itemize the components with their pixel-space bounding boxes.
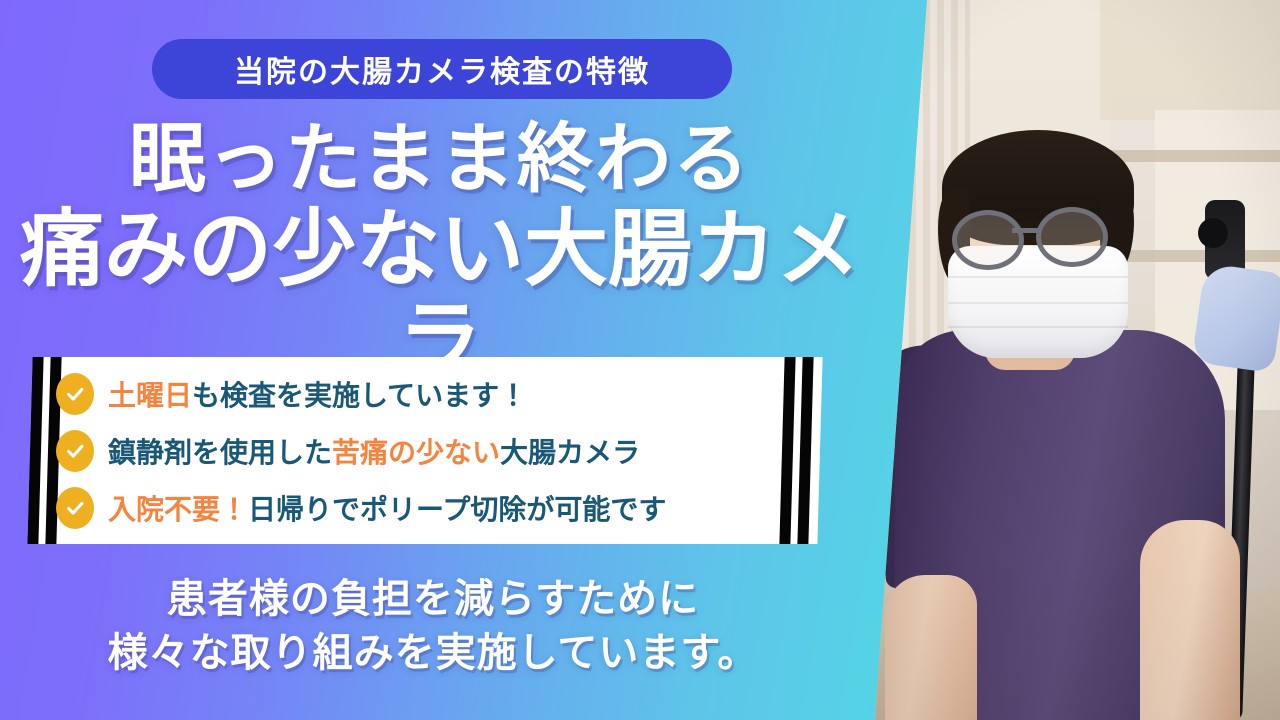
glove-icon bbox=[1191, 263, 1280, 373]
feature-text-1: 土曜日も検査を実施しています！ bbox=[108, 374, 527, 414]
check-circle-icon bbox=[56, 487, 94, 529]
check-circle-icon bbox=[56, 430, 94, 472]
caption-line-2: 様々な取り組みを実施しています。 bbox=[0, 626, 866, 680]
doctor-arm-right bbox=[1140, 520, 1240, 720]
check-circle-icon bbox=[56, 373, 94, 415]
caption: 患者様の負担を減らすために 様々な取り組みを実施しています。 bbox=[0, 572, 866, 680]
wall-panel-3 bbox=[1100, 0, 1280, 120]
feature-badge-label: 当院の大腸カメラ検査の特徴 bbox=[234, 47, 650, 91]
glasses-lens-right bbox=[1036, 207, 1108, 267]
shelf-upper bbox=[1100, 150, 1280, 162]
glasses-lens-left bbox=[952, 210, 1024, 270]
features-list: 土曜日も検査を実施しています！ 鎮静剤を使用した苦痛の少ない大腸カメラ 入院不要… bbox=[56, 363, 796, 538]
headline-line-1: 眠ったまま終わる bbox=[0, 118, 880, 200]
list-item: 土曜日も検査を実施しています！ bbox=[56, 367, 796, 421]
feature-1-highlight: 土曜日 bbox=[108, 379, 192, 412]
feature-2-highlight: 苦痛の少ない bbox=[332, 436, 500, 469]
list-item: 鎮静剤を使用した苦痛の少ない大腸カメラ bbox=[56, 424, 796, 478]
promo-banner: 当院の大腸カメラ検査の特徴 眠ったまま終わる 痛みの少ない大腸カメラ 土曜日も検… bbox=[0, 0, 1280, 720]
endoscope-knob bbox=[1198, 218, 1228, 248]
caption-line-1: 患者様の負担を減らすために bbox=[0, 572, 866, 626]
glasses-bridge bbox=[1012, 228, 1040, 233]
feature-badge: 当院の大腸カメラ検査の特徴 bbox=[152, 39, 732, 99]
features-panel: 土曜日も検査を実施しています！ 鎮静剤を使用した苦痛の少ない大腸カメラ 入院不要… bbox=[12, 357, 838, 544]
feature-2-lead: 鎮静剤を使用した bbox=[108, 436, 332, 469]
feature-2-rest: 大腸カメラ bbox=[500, 436, 640, 469]
feature-text-2: 鎮静剤を使用した苦痛の少ない大腸カメラ bbox=[108, 431, 640, 471]
doctor-arm-left bbox=[885, 575, 977, 720]
feature-text-3: 入院不要！日帰りでポリープ切除が可能です bbox=[108, 488, 666, 528]
feature-1-rest: も検査を実施しています！ bbox=[192, 379, 527, 412]
list-item: 入院不要！日帰りでポリープ切除が可能です bbox=[56, 481, 796, 535]
headline: 眠ったまま終わる 痛みの少ない大腸カメラ bbox=[0, 118, 880, 386]
feature-3-rest: 日帰りでポリープ切除が可能です bbox=[248, 493, 666, 526]
feature-3-highlight: 入院不要！ bbox=[108, 493, 248, 526]
